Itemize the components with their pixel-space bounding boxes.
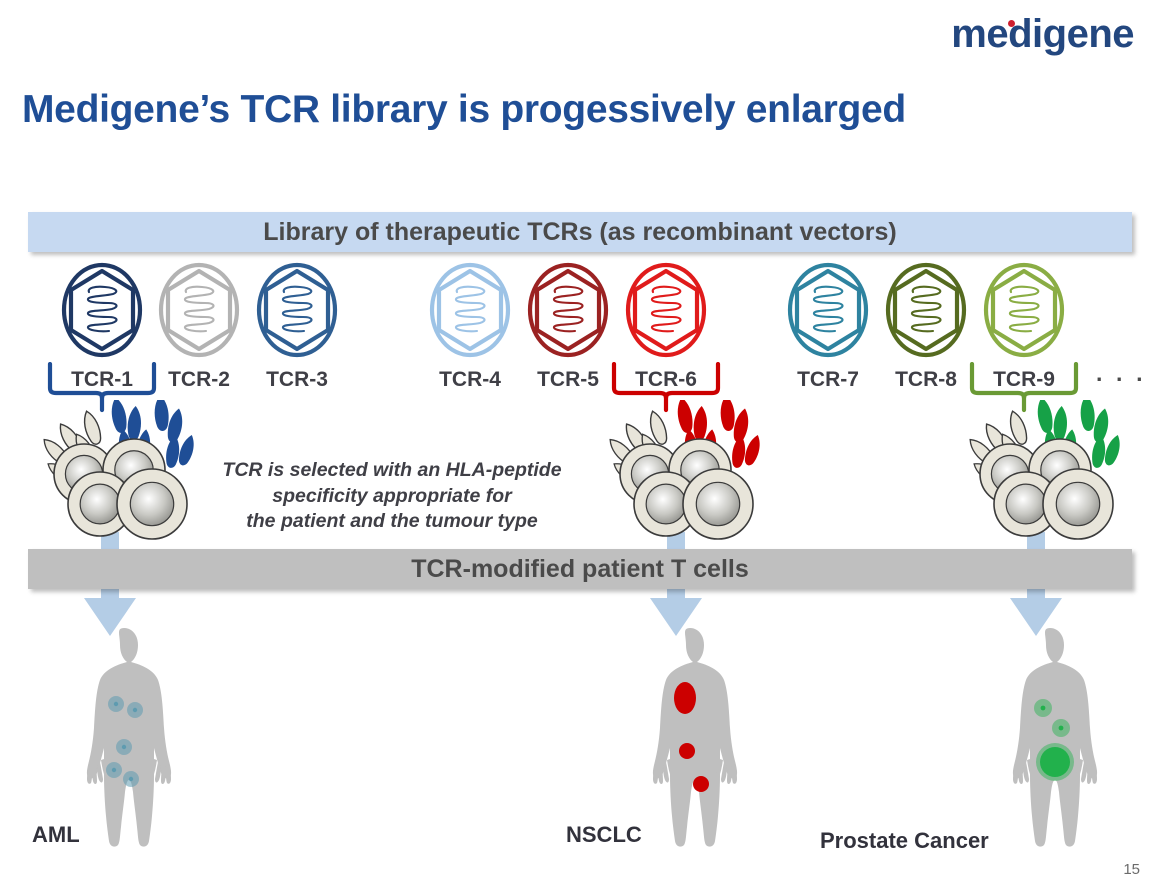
patient-figure-aml	[59, 620, 189, 850]
tcr-label-tcr-8: TCR-8	[871, 368, 981, 392]
library-banner: Library of therapeutic TCRs (as recombin…	[28, 212, 1132, 252]
disease-label-prostate-cancer: Prostate Cancer	[820, 828, 989, 854]
selection-note: TCR is selected with an HLA-peptide spec…	[197, 458, 587, 535]
tcr-icon-tcr-6[interactable]	[625, 262, 707, 358]
tcr-ellipsis: · · ·	[1096, 366, 1147, 393]
tcell-banner: TCR-modified patient T cells	[28, 549, 1132, 589]
tcr-icon-tcr-3[interactable]	[256, 262, 338, 358]
selection-note-line-3: the patient and the tumour type	[197, 509, 587, 535]
tcr-icon-tcr-9[interactable]	[983, 262, 1065, 358]
tcr-icon-tcr-7[interactable]	[787, 262, 869, 358]
patient-figure-nsclc	[625, 620, 755, 850]
tcr-label-tcr-4: TCR-4	[415, 368, 525, 392]
tcell-cluster-blue	[22, 400, 212, 535]
tcr-icon-tcr-4[interactable]	[429, 262, 511, 358]
tcr-icon-tcr-8[interactable]	[885, 262, 967, 358]
tcr-label-tcr-2: TCR-2	[144, 368, 254, 392]
tcr-icon-tcr-1[interactable]	[61, 262, 143, 358]
tcr-label-tcr-7: TCR-7	[773, 368, 883, 392]
disease-label-nsclc: NSCLC	[566, 822, 642, 848]
tcr-icon-tcr-2[interactable]	[158, 262, 240, 358]
library-banner-label: Library of therapeutic TCRs (as recombin…	[263, 218, 896, 247]
page-number: 15	[1123, 861, 1140, 878]
medigene-logo: medigene	[951, 14, 1134, 54]
tcell-cluster-red	[588, 400, 778, 535]
disease-label-aml: AML	[32, 822, 80, 848]
logo-wordmark: medigene	[951, 12, 1134, 56]
patient-figure-prostate-cancer	[985, 620, 1115, 850]
tcr-label-tcr-5: TCR-5	[513, 368, 623, 392]
tcr-icon-tcr-5[interactable]	[527, 262, 609, 358]
selection-note-line-2: specificity appropriate for	[197, 484, 587, 510]
tcell-banner-label: TCR-modified patient T cells	[411, 555, 749, 584]
tcr-label-tcr-3: TCR-3	[242, 368, 352, 392]
selection-note-line-1: TCR is selected with an HLA-peptide	[197, 458, 587, 484]
page-title: Medigene’s TCR library is progessively e…	[22, 88, 906, 132]
tcell-cluster-green	[948, 400, 1138, 535]
